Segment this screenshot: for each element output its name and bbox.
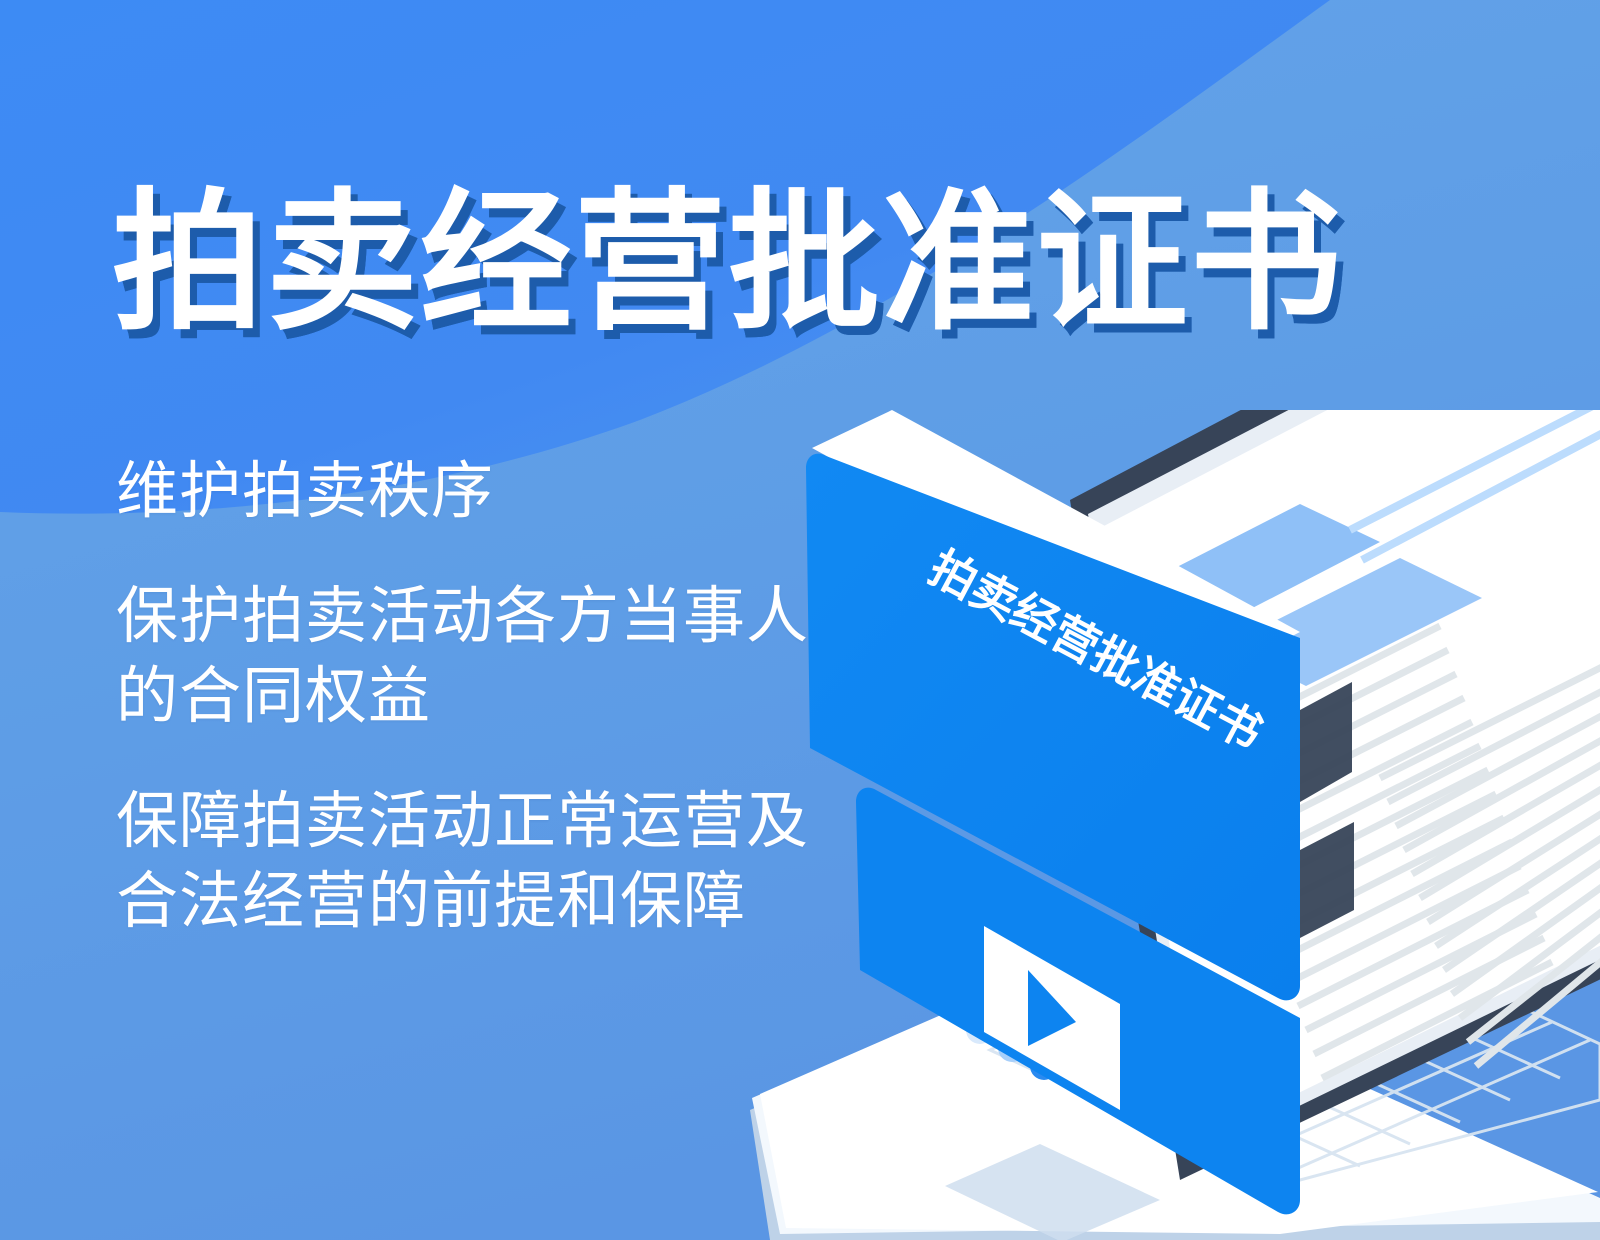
bullet-item-2: 保护拍卖活动各方当事人 的合同权益 — [116, 577, 936, 738]
bullet-item-3: 保障拍卖活动正常运营及 合法经营的前提和保障 — [116, 782, 936, 943]
bullet-list: 维护拍卖秩序 保护拍卖活动各方当事人 的合同权益 保障拍卖活动正常运营及 合法经… — [116, 452, 936, 943]
page-title: 拍卖经营批准证书 — [112, 178, 1344, 348]
poster-canvas: 拍卖经营批准证书 维护拍卖秩序 保护拍卖活动各方当事人 的合同权益 保障拍卖活动… — [0, 0, 1600, 1240]
bullet-item-1: 维护拍卖秩序 — [116, 452, 936, 533]
